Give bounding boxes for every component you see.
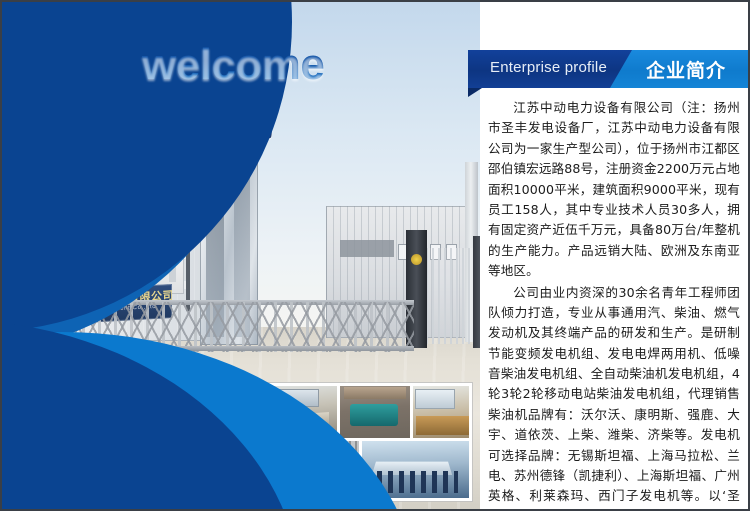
warehouse-band — [340, 240, 394, 257]
section-title-tab: Enterprise profile 企业简介 — [468, 50, 748, 88]
welcome-heading: welcome — [142, 40, 324, 90]
profile-paragraph-2: 公司由业内资深的30余名青年工程师团队倾力打造，专业从事通用汽、柴油、燃气发动机… — [488, 283, 740, 511]
profile-panel: Enterprise profile 企业简介 江苏中动电力设备有限公司（注：扬… — [480, 2, 748, 509]
tab-chinese-label: 企业简介 — [646, 56, 726, 83]
photo-generator-workshop — [340, 386, 410, 438]
company-profile-text: 江苏中动电力设备有限公司（注：扬州市圣丰发电设备厂，江苏中动电力设备有限公司为一… — [488, 98, 740, 498]
factory-photo-panel: 中动电力 江苏中动电力设备有限公司 Zhongdong Power Equipm… — [2, 2, 482, 509]
tab-english: Enterprise profile — [468, 50, 638, 88]
tab-chinese: 企业简介 — [610, 50, 748, 88]
gate-fence — [426, 248, 476, 344]
left-edge-bar — [2, 2, 11, 509]
banner-page: 中动电力 江苏中动电力设备有限公司 Zhongdong Power Equipm… — [0, 0, 750, 511]
profile-paragraph-1: 江苏中动电力设备有限公司（注：扬州市圣丰发电设备厂，江苏中动电力设备有限公司为一… — [488, 98, 740, 282]
gate-emblem-icon — [411, 254, 422, 265]
photo-open-office — [413, 386, 469, 438]
tab-english-label: Enterprise profile — [490, 59, 607, 76]
